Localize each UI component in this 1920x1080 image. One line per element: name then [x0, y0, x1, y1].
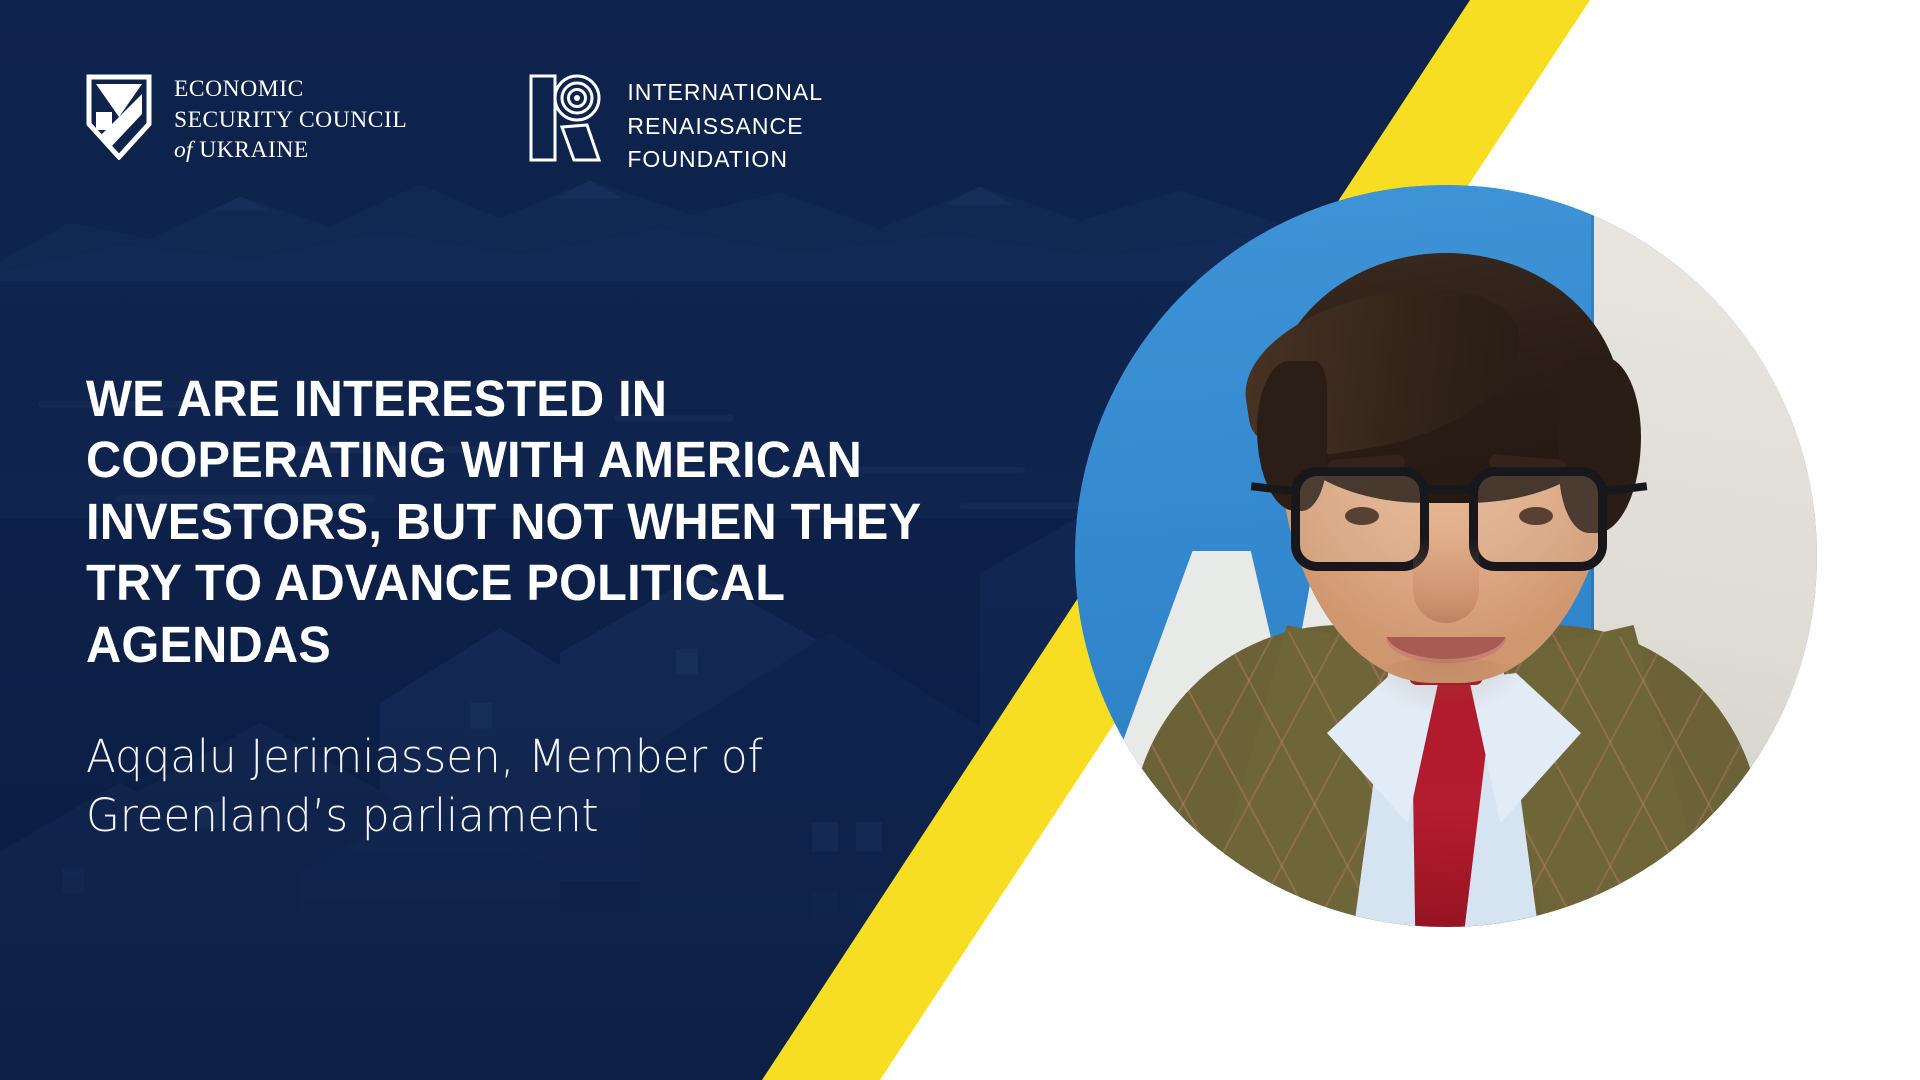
portrait-photo	[1075, 185, 1817, 927]
eyeglass-temple-left	[1251, 482, 1298, 496]
eyeglass-temple-right	[1601, 482, 1648, 496]
escu-line-2: SECURITY COUNCIL	[174, 105, 407, 136]
irf-wordmark: INTERNATIONAL RENAISSANCE FOUNDATION	[627, 74, 823, 177]
irf-logo: INTERNATIONAL RENAISSANCE FOUNDATION	[529, 74, 823, 177]
quote-headline: We are interested in cooperating with Am…	[86, 368, 1003, 675]
irf-line-3: FOUNDATION	[627, 143, 823, 177]
irf-line-1: INTERNATIONAL	[627, 76, 823, 110]
portrait-chin-shadow	[1361, 657, 1531, 717]
eyeglass-bridge	[1419, 485, 1473, 494]
quote-card: ECONOMIC SECURITY COUNCIL of UKRAINE INT…	[0, 0, 1920, 1080]
eyeglass-lens-right	[1469, 467, 1607, 571]
portrait-nose	[1413, 537, 1479, 623]
quote-attribution: Aqqalu Jerimiassen, Member of Greenland’…	[86, 728, 940, 845]
irf-r-target-icon	[529, 74, 605, 162]
escu-wordmark: ECONOMIC SECURITY COUNCIL of UKRAINE	[174, 74, 407, 166]
escu-line-3: of UKRAINE	[174, 135, 407, 166]
logo-row: ECONOMIC SECURITY COUNCIL of UKRAINE INT…	[86, 74, 823, 177]
escu-logo: ECONOMIC SECURITY COUNCIL of UKRAINE	[86, 74, 407, 166]
irf-line-2: RENAISSANCE	[627, 110, 823, 144]
eyeglass-lens-left	[1291, 467, 1429, 571]
escu-shield-icon	[86, 74, 152, 160]
escu-line-3-of: of	[174, 137, 193, 163]
escu-line-3-ukraine: UKRAINE	[199, 137, 309, 163]
escu-line-1: ECONOMIC	[174, 74, 407, 105]
